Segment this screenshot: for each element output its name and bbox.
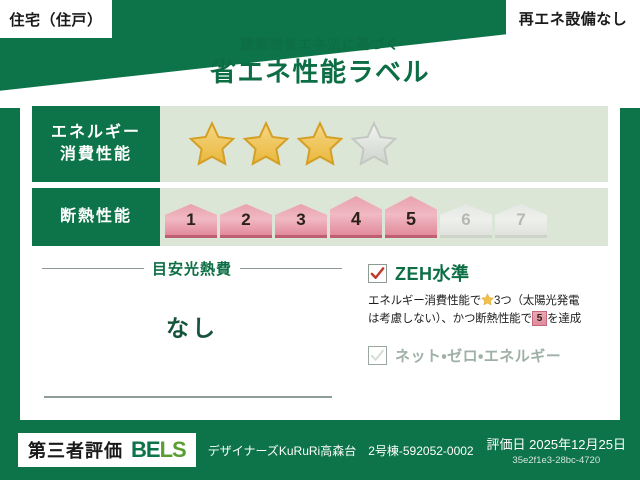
net-zero-energy-row: ネット・ゼロ・エネルギー [368, 345, 608, 366]
zeh-heading: ZEH水準 [368, 260, 608, 286]
zeh-title: ZEH水準 [395, 260, 470, 286]
bels-logo-part2: LS [160, 437, 186, 462]
zeh-desc-part3: を達成 [547, 313, 581, 325]
evaluation-date: 評価日 2025年12月25日 [487, 434, 626, 453]
zeh-desc-star-count: 3つ（太陽光発電 [494, 295, 579, 307]
insulation-grade-3: 3 [275, 204, 327, 238]
third-party-eval-label: 第三者評価 [28, 437, 123, 463]
title-subtitle: 建築物省エネ法に基づく [0, 36, 640, 55]
evaluation-info: 評価日 2025年12月25日 35e2f1e3-28bc-4720 [487, 434, 626, 466]
insulation-grade-scale: 1234567 [160, 196, 547, 238]
lower-section: 目安光熱費 なし ZEH水準 エネルギー消費性能で [32, 252, 608, 420]
zeh-desc-grade-badge: 5 [532, 311, 547, 326]
insulation-grade-1: 1 [165, 204, 217, 238]
bels-logo: BELS [131, 437, 186, 463]
zeh-checkbox[interactable] [368, 264, 387, 283]
energy-label-line1: エネルギー [51, 122, 141, 144]
inline-star-icon [481, 293, 494, 306]
bels-energy-label: 住宅（住戸） 再エネ設備なし 建築物省エネ法に基づく 省エネ性能ラベル エネルギ… [0, 0, 640, 480]
energy-performance-label: エネルギー 消費性能 [32, 106, 160, 182]
energy-label-line2: 消費性能 [60, 144, 132, 166]
bels-certification-badge: 第三者評価 BELS [18, 433, 196, 467]
insulation-performance-value: 1234567 [160, 188, 608, 246]
insulation-label-text: 断熱性能 [60, 206, 132, 228]
utility-cost-heading: 目安光熱費 [32, 258, 352, 279]
utility-cost-section: 目安光熱費 なし [32, 252, 352, 420]
star-filled-icon [188, 120, 236, 168]
insulation-grade-5: 5 [385, 196, 437, 238]
utility-cost-title: 目安光熱費 [152, 258, 232, 279]
insulation-grade-2: 2 [220, 204, 272, 238]
star-empty-icon [350, 120, 398, 168]
insulation-performance-label: 断熱性能 [32, 188, 160, 246]
utility-cost-value: なし [32, 309, 352, 343]
star-filled-icon [296, 120, 344, 168]
housing-type-label: 住宅（住戸） [9, 9, 102, 30]
heading-rule-right [240, 268, 342, 269]
insulation-grade-7: 7 [495, 204, 547, 238]
star-filled-icon [242, 120, 290, 168]
utility-cost-divider [44, 396, 332, 398]
renewable-equipment-label: 再エネ設備なし [519, 8, 628, 29]
page-title: 省エネ性能ラベル [0, 55, 640, 90]
bels-logo-part1: BE [131, 437, 160, 462]
net-zero-energy-checkbox[interactable] [368, 346, 387, 365]
star-rating [160, 120, 398, 168]
label-footer: 第三者評価 BELS デザイナーズKuRuRi高森台 2号棟-592052-00… [0, 420, 640, 480]
insulation-performance-row: 断熱性能 1234567 [32, 188, 608, 246]
net-zero-energy-label: ネット・ゼロ・エネルギー [395, 345, 561, 366]
insulation-grade-4: 4 [330, 196, 382, 238]
insulation-grade-6: 6 [440, 204, 492, 238]
evaluation-id: 35e2f1e3-28bc-4720 [487, 455, 626, 466]
energy-performance-value [160, 106, 608, 182]
zeh-desc-part1: エネルギー消費性能で [368, 295, 481, 307]
check-icon-disabled [370, 348, 385, 363]
energy-performance-row: エネルギー 消費性能 [32, 106, 608, 182]
label-content-card: エネルギー 消費性能 断熱性能 1234567 目安光熱費 [20, 96, 620, 420]
heading-rule-left [42, 268, 144, 269]
zeh-section: ZEH水準 エネルギー消費性能で 3つ（太陽光発電 は考慮しない）、かつ断熱性能… [352, 252, 608, 420]
check-icon [370, 266, 385, 281]
housing-type-tag: 住宅（住戸） [0, 0, 112, 38]
label-title-block: 建築物省エネ法に基づく 省エネ性能ラベル [0, 36, 640, 90]
zeh-desc-part2: は考慮しない）、かつ断熱性能で [368, 313, 532, 325]
building-name: デザイナーズKuRuRi高森台 2号棟-592052-0002 [208, 442, 474, 459]
renewable-equipment-tag: 再エネ設備なし [506, 0, 640, 36]
zeh-description: エネルギー消費性能で 3つ（太陽光発電 は考慮しない）、かつ断熱性能で5を達成 [368, 293, 608, 329]
